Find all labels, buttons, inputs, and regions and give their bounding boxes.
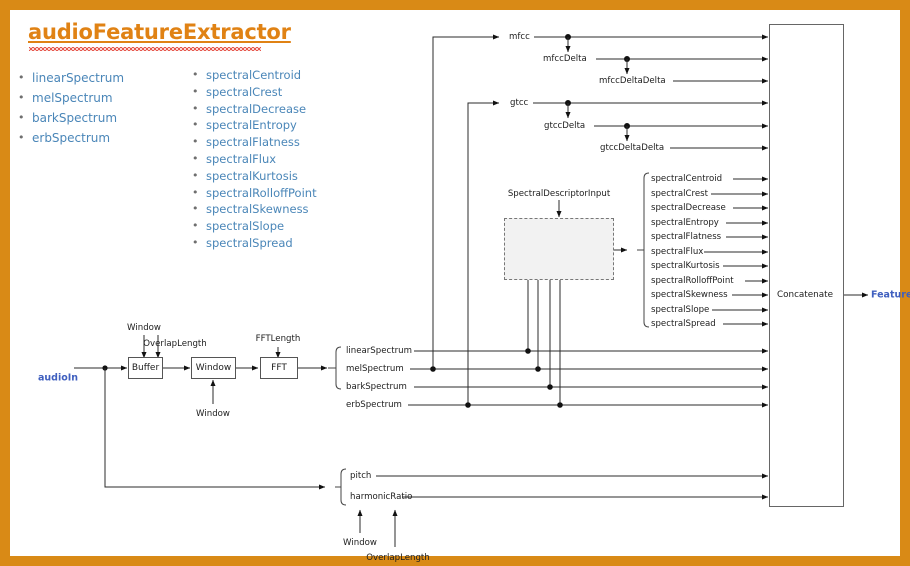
fftlength-param-label: FFTLength <box>256 334 301 344</box>
buffer-window-param-label: Window <box>127 323 161 333</box>
features-output-label: Features <box>871 290 910 301</box>
gtcc-delta-label: gtccDelta <box>544 121 585 131</box>
buffer-block-label: Buffer <box>132 363 159 373</box>
block-diagram: Buffer Window FFT SpectralDescriptorInpu… <box>10 10 900 556</box>
mfcc-delta-delta-label: mfccDeltaDelta <box>599 76 666 86</box>
fft-block-label: FFT <box>271 363 287 373</box>
descriptor-label-spectralslope: spectralSlope <box>651 305 709 315</box>
mfcc-label: mfcc <box>509 32 530 42</box>
pitch-window-param-label: Window <box>343 538 377 548</box>
descriptor-label-spectralspread: spectralSpread <box>651 319 716 329</box>
descriptor-label-spectralflux: spectralFlux <box>651 247 703 257</box>
diagram-wires <box>10 10 900 556</box>
page-root: audioFeatureExtractor •linearSpectrum •m… <box>0 0 910 566</box>
descriptor-label-spectralcrest: spectralCrest <box>651 189 708 199</box>
harmonic-ratio-label: harmonicRatio <box>350 492 412 502</box>
pitch-label: pitch <box>350 471 371 481</box>
concatenate-label: Concatenate <box>777 290 833 300</box>
audio-in-label: audioIn <box>38 373 78 384</box>
descriptor-label-spectralcentroid: spectralCentroid <box>651 174 722 184</box>
descriptor-label-spectralrolloffpoint: spectralRolloffPoint <box>651 276 734 286</box>
descriptor-label-spectralskewness: spectralSkewness <box>651 290 728 300</box>
spectral-descriptor-input-label: SpectralDescriptorInput <box>508 189 610 199</box>
buffer-overlaplength-param-label: OverlapLength <box>143 339 206 349</box>
descriptor-label-spectralkurtosis: spectralKurtosis <box>651 261 720 271</box>
descriptor-label-spectralflatness: spectralFlatness <box>651 232 721 242</box>
spectrum-label-barkspectrum: barkSpectrum <box>346 382 407 392</box>
diagram-canvas: audioFeatureExtractor •linearSpectrum •m… <box>10 10 900 556</box>
pitch-overlaplength-param-label: OverlapLength <box>366 553 429 563</box>
mfcc-delta-label: mfccDelta <box>543 54 587 64</box>
descriptor-label-spectralentropy: spectralEntropy <box>651 218 719 228</box>
spectral-descriptor-input-box[interactable] <box>504 218 614 280</box>
concatenate-block[interactable] <box>769 24 844 507</box>
spectrum-label-melspectrum: melSpectrum <box>346 364 404 374</box>
gtcc-delta-delta-label: gtccDeltaDelta <box>600 143 664 153</box>
descriptor-label-spectraldecrease: spectralDecrease <box>651 203 726 213</box>
spectrum-label-erbspectrum: erbSpectrum <box>346 400 402 410</box>
window-block-label: Window <box>196 363 232 373</box>
spectrum-label-linearspectrum: linearSpectrum <box>346 346 412 356</box>
gtcc-label: gtcc <box>510 98 528 108</box>
window-window-param-label: Window <box>196 409 230 419</box>
